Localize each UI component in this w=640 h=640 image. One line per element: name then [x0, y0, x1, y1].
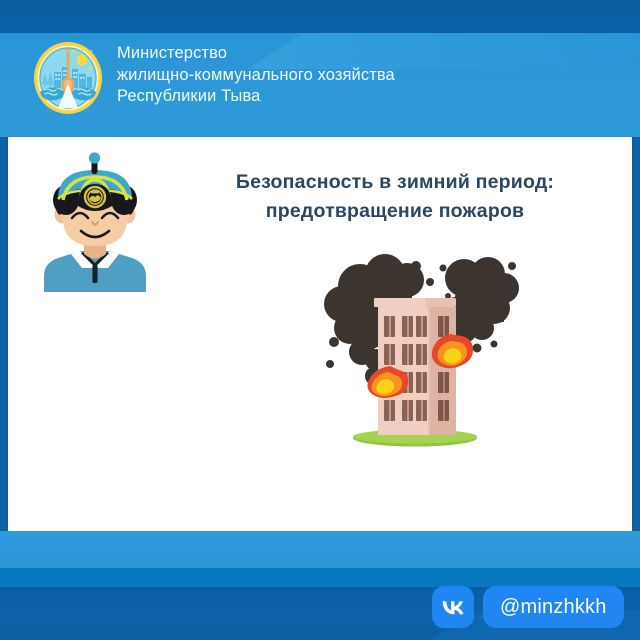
poster-canvas: Министерство жилищно-коммунального хозяй…: [0, 0, 640, 640]
top-color-band: [0, 0, 640, 33]
ministry-name-line-1: Министерство: [117, 43, 587, 65]
ministry-name: Министерство жилищно-коммунального хозяй…: [117, 43, 587, 108]
tuvan-man-avatar-icon: [36, 152, 154, 292]
ministry-emblem-icon: [32, 40, 104, 116]
vk-handle-label[interactable]: @minzhkkh: [483, 586, 624, 628]
poster-title-line-2: предотвращение пожаров: [170, 197, 620, 226]
poster-title-line-1: Безопасность в зимний период:: [170, 168, 620, 197]
footer-band-light: [0, 531, 640, 568]
social-link-group[interactable]: @minzhkkh: [432, 586, 624, 628]
footer-band-mid: [0, 568, 640, 587]
burning-building-illustration-icon: [312, 248, 522, 454]
poster-title: Безопасность в зимний период: предотвращ…: [170, 168, 620, 226]
vk-logo-icon[interactable]: [432, 586, 474, 628]
ministry-name-line-2: жилищно-коммунального хозяйства: [117, 65, 587, 87]
ministry-name-line-3: Республикии Тыва: [117, 86, 587, 108]
